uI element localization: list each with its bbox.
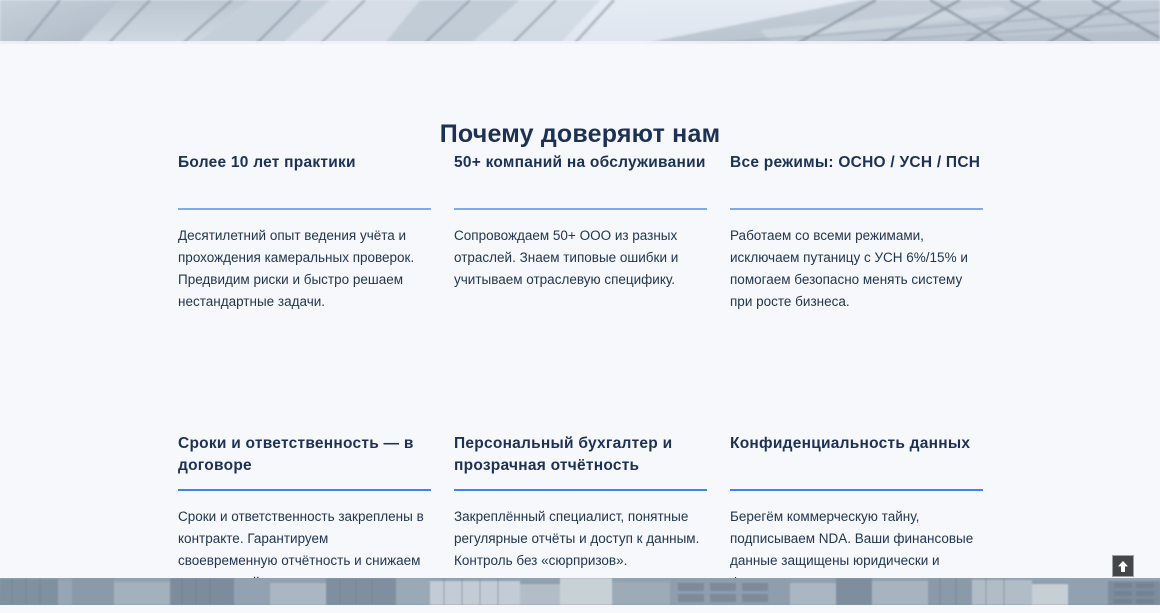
benefit-card: 50+ компаний на обслуживании Сопровождае…: [454, 152, 707, 332]
city-buildings-banner-image: [0, 578, 1160, 605]
benefit-card-heading: Персональный бухгалтер и прозрачная отчё…: [454, 433, 707, 477]
benefit-card-heading: Конфиденциальность данных: [730, 433, 983, 477]
benefit-card-heading: Более 10 лет практики: [178, 152, 431, 196]
benefit-card-heading: 50+ компаний на обслуживании: [454, 152, 707, 196]
benefit-card-body: Десятилетний опыт ведения учёта и прохож…: [178, 225, 431, 312]
glass-facade-banner-image: [0, 0, 1160, 44]
benefit-card: Все режимы: ОСНО / УСН / ПСН Работаем со…: [730, 152, 983, 332]
benefit-card-divider: [730, 489, 983, 491]
benefit-card: Конфиденциальность данных Берегём коммер…: [730, 332, 983, 613]
top-banner: [0, 0, 1160, 44]
bottom-banner: [0, 578, 1160, 605]
benefit-card: Сроки и ответственность — в договоре Сро…: [178, 332, 431, 613]
benefit-card-body: Работаем со всеми режимами, исключаем пу…: [730, 225, 983, 312]
scroll-to-top-button[interactable]: [1112, 555, 1134, 577]
benefit-card-divider: [178, 489, 431, 491]
benefit-card: Персональный бухгалтер и прозрачная отчё…: [454, 332, 707, 613]
benefit-card-divider: [178, 208, 431, 210]
page-content: Почему доверяют нам Более 10 лет практик…: [0, 44, 1160, 578]
arrow-up-icon: [1117, 560, 1129, 573]
page-title: Почему доверяют нам: [0, 120, 1160, 149]
benefit-card-body: Закреплённый специалист, понятные регуля…: [454, 506, 707, 572]
benefit-card-heading: Все режимы: ОСНО / УСН / ПСН: [730, 152, 983, 196]
benefit-card-heading: Сроки и ответственность — в договоре: [178, 433, 431, 477]
benefits-grid: Более 10 лет практики Десятилетний опыт …: [178, 152, 984, 613]
benefit-card-divider: [730, 208, 983, 210]
benefit-card-divider: [454, 208, 707, 210]
benefit-card-body: Сопровождаем 50+ ООО из разных отраслей.…: [454, 225, 707, 291]
benefit-card: Более 10 лет практики Десятилетний опыт …: [178, 152, 431, 332]
benefit-card-divider: [454, 489, 707, 491]
